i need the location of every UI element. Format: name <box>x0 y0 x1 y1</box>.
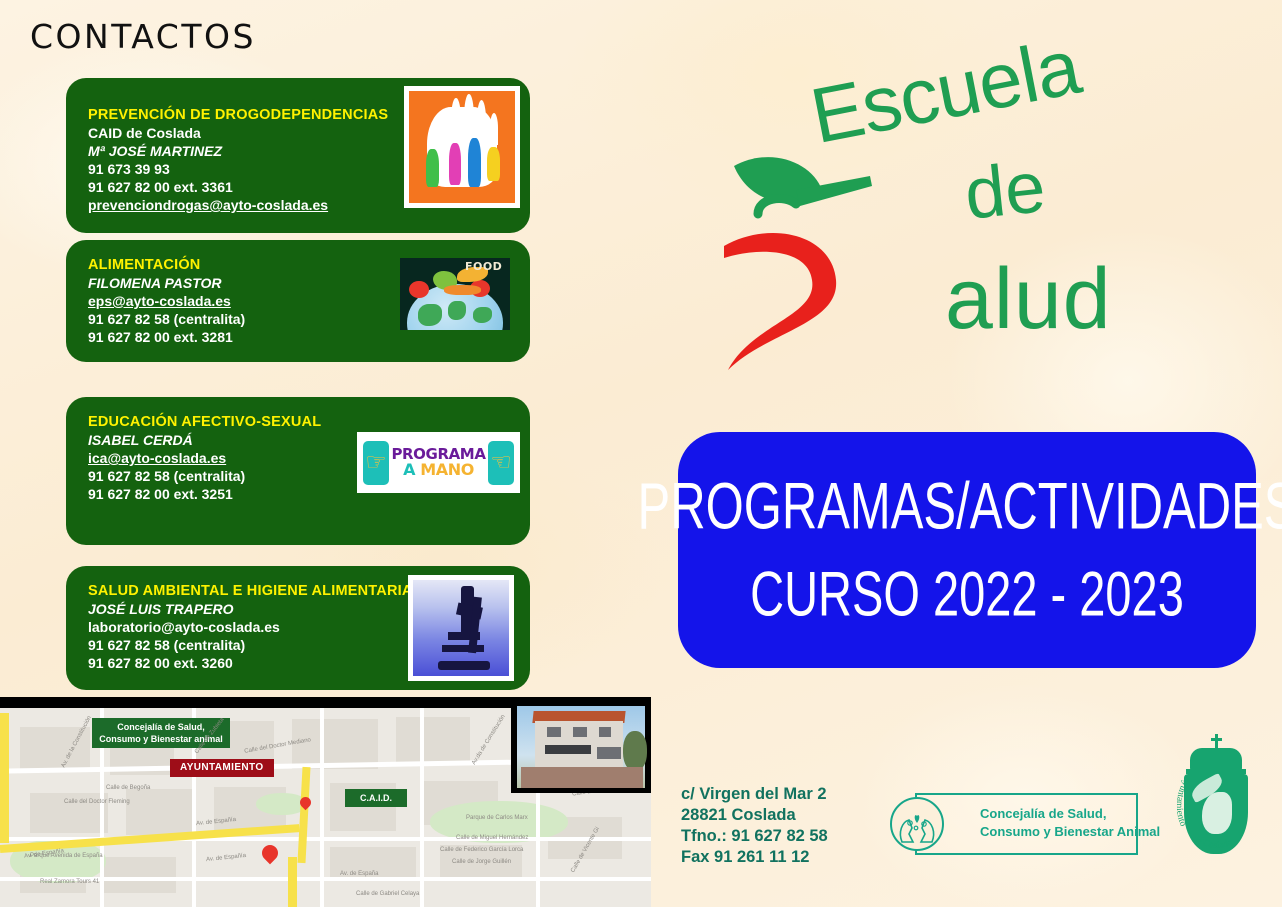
map-street: Calle de Gabriel Celaya <box>356 891 419 897</box>
contact-phone-1: 91 627 82 58 (centralita) <box>88 467 321 485</box>
banner-line-2: CURSO 2022 - 2023 <box>750 560 1184 627</box>
pointing-hand-icon: ☜ <box>488 441 514 485</box>
banner-line-1: PROGRAMAS/ACTIVIDADES <box>638 473 1282 542</box>
a-label: A <box>403 460 415 479</box>
crest-text-right: de Coslada <box>1191 834 1234 851</box>
concejalia-line-2: Consumo y Bienestar Animal <box>980 823 1160 841</box>
map-pin-marker[interactable] <box>259 842 282 865</box>
map-street: Av. de Españía <box>206 853 247 863</box>
contact-org: CAID de Coslada <box>88 124 388 142</box>
apple-leaf-icon <box>700 128 960 388</box>
contact-person: FILOMENA PASTOR <box>88 274 245 292</box>
page-title: CONTACTOS <box>30 17 256 56</box>
contact-phone-1: 91 627 82 58 (centralita) <box>88 310 245 328</box>
map-label-concejalia-line-1: Concejalía de Salud, <box>98 721 224 733</box>
address-city: 28821 Coslada <box>681 805 828 826</box>
contact-person: ISABEL CERDÁ <box>88 431 321 449</box>
crown-icon <box>1190 748 1242 770</box>
contact-person: JOSÉ LUIS TRAPERO <box>88 600 413 618</box>
map-street: Calle de Jorge Guillén <box>452 859 511 865</box>
svg-text:de Coslada: de Coslada <box>1191 834 1234 851</box>
programa-a-mano-logo: ☞ PROGRAMA A MANO ☜ <box>357 432 520 493</box>
contact-person: Mª JOSÉ MARTINEZ <box>88 142 388 160</box>
concejalia-line-1: Concejalía de Salud, <box>980 805 1160 823</box>
svg-text:Ayuntamiento: Ayuntamiento <box>1177 774 1193 828</box>
map-street: Calle del Doctor Fleming <box>64 799 130 805</box>
map-street: Parque de Carlos Marx <box>466 815 528 821</box>
food-earth-image: FOOD <box>400 258 510 330</box>
contact-email[interactable]: prevenciondrogas@ayto-coslada.es <box>88 196 388 214</box>
food-caption: FOOD <box>465 260 502 273</box>
address-fax: Fax 91 261 11 12 <box>681 847 828 868</box>
concejalia-logo: Concejalía de Salud, Consumo y Bienestar… <box>890 793 1138 859</box>
building-photo <box>511 701 651 793</box>
caring-hands-icon <box>896 810 938 844</box>
map-street: Av.da de Constitución <box>471 714 507 766</box>
escuela-de-salud-logo: Escuela de alud <box>690 10 1250 390</box>
contact-phone-2: 91 627 82 00 ext. 3361 <box>88 178 388 196</box>
contact-phone-2: 91 627 82 00 ext. 3281 <box>88 328 245 346</box>
contact-phone-1: 91 673 39 93 <box>88 160 388 178</box>
contact-email[interactable]: ica@ayto-coslada.es <box>88 449 321 467</box>
ayuntamiento-crest: Ayuntamiento de Coslada <box>1168 730 1264 870</box>
contact-email[interactable]: laboratorio@ayto-coslada.es <box>88 618 413 636</box>
map-label-caid[interactable]: C.A.I.D. <box>345 789 407 807</box>
crest-text-left: Ayuntamiento <box>1177 774 1193 828</box>
address-block: c/ Virgen del Mar 2 28821 Coslada Tfno.:… <box>681 784 828 868</box>
contact-title: PREVENCIÓN DE DROGODEPENDENCIAS <box>88 106 388 124</box>
contact-email[interactable]: eps@ayto-coslada.es <box>88 292 245 310</box>
map-street: Calle de Federico García Lorca <box>440 847 523 853</box>
map-street: Av. de España <box>340 871 378 877</box>
ok-hand-icon: ☞ <box>363 441 389 485</box>
contact-title: ALIMENTACIÓN <box>88 256 245 274</box>
mano-label: MANO <box>420 460 474 479</box>
map-street: Parque Avenida de España <box>30 853 103 859</box>
map-street: Calle de Begoña <box>106 785 150 791</box>
contact-title: EDUCACIÓN AFECTIVO-SEXUAL <box>88 413 321 431</box>
programs-banner: PROGRAMAS/ACTIVIDADES CURSO 2022 - 2023 <box>678 432 1256 668</box>
contact-phone-1: 91 627 82 58 (centralita) <box>88 636 413 654</box>
map-label-ayuntamiento[interactable]: AYUNTAMIENTO <box>170 759 274 777</box>
contact-phone-2: 91 627 82 00 ext. 3260 <box>88 654 413 672</box>
contact-title: SALUD AMBIENTAL E HIGIENE ALIMENTARIA <box>88 582 413 600</box>
logo-word-alud: alud <box>945 250 1112 349</box>
contact-phone-2: 91 627 82 00 ext. 3251 <box>88 485 321 503</box>
address-street: c/ Virgen del Mar 2 <box>681 784 828 805</box>
hands-prevention-image <box>404 86 520 208</box>
map-street: Calle de Miguel Hernández <box>456 835 528 841</box>
microscope-image <box>408 575 514 681</box>
crest-ring-text: Ayuntamiento de Coslada <box>1177 770 1255 865</box>
brochure-page: CONTACTOS PREVENCIÓN DE DROGODEPENDENCIA… <box>0 0 1282 907</box>
address-phone: Tfno.: 91 627 82 58 <box>681 826 828 847</box>
logo-word-de: de <box>961 146 1049 236</box>
map-street: Real Zamora Tours 41 <box>40 879 99 885</box>
